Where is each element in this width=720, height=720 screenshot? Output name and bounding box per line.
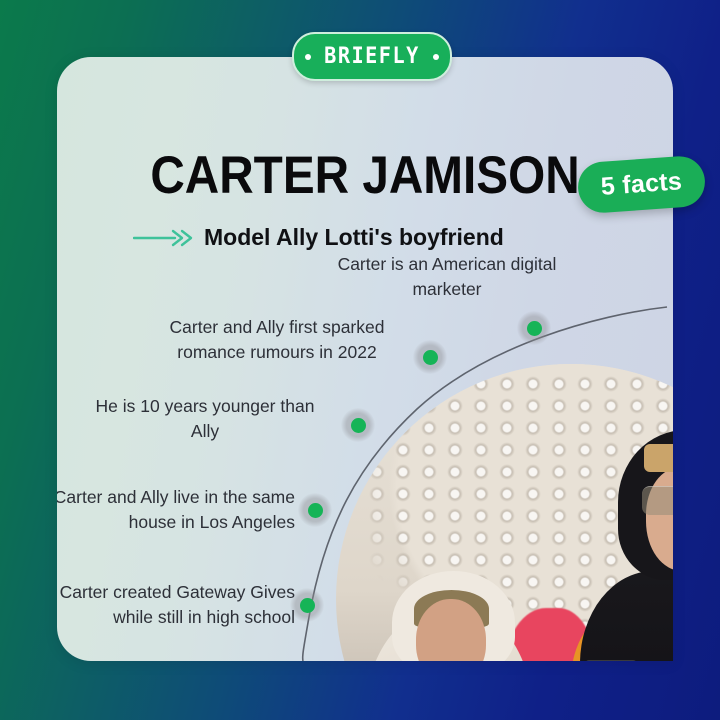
fact-label-4: Carter and Ally live in the same house i… — [57, 485, 295, 535]
fact-label-1: Carter is an American digital marketer — [321, 252, 573, 302]
facts-count-badge[interactable]: 5 facts — [576, 155, 706, 215]
badge-dot-right-icon — [433, 54, 439, 60]
photo-image — [336, 364, 673, 661]
brand-badge[interactable]: BRIEFLY — [292, 32, 452, 81]
brand-name: BRIEFLY — [324, 46, 420, 68]
fact-label-5: Carter created Gateway Gives while still… — [57, 580, 295, 630]
person-right-glasses — [642, 486, 674, 515]
facts-count-label: 5 facts — [600, 167, 683, 202]
fact-dot-5[interactable] — [290, 588, 324, 622]
page-title: CARTER JAMISON — [88, 149, 642, 202]
infographic-canvas: Carter is an American digital marketer C… — [0, 0, 720, 720]
badge-dot-left-icon — [305, 54, 311, 60]
subtitle-row: Model Ally Lotti's boyfriend — [77, 225, 637, 250]
fact-label-3: He is 10 years younger than Ally — [85, 394, 325, 444]
person-right-headband — [644, 444, 673, 472]
content-card: Carter is an American digital marketer C… — [57, 57, 673, 661]
fact-dot-4[interactable] — [298, 493, 332, 527]
page-subtitle: Model Ally Lotti's boyfriend — [204, 225, 504, 250]
fact-dot-3[interactable] — [341, 408, 375, 442]
double-chevron-right-arrow-icon — [133, 229, 195, 247]
card-clip: Carter is an American digital marketer C… — [57, 57, 673, 661]
fact-label-2: Carter and Ally first sparked romance ru… — [153, 315, 401, 365]
fact-dot-2[interactable] — [413, 340, 447, 374]
tumbler-lid — [585, 660, 637, 661]
fact-dot-1[interactable] — [517, 311, 551, 345]
subject-photo — [336, 364, 673, 661]
